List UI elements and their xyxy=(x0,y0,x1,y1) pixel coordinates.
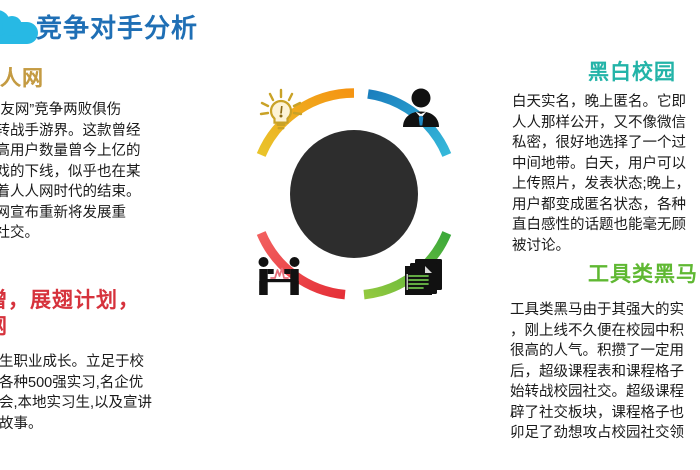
section-number: 2 xyxy=(0,11,6,45)
panel-heading-shixi: 习僧，展翅计划， 街网 xyxy=(0,288,140,340)
businessman-icon xyxy=(398,85,444,131)
panel-body-renren: 讯的“朋友网”竞争两败俱伤 人人网转战手游界。这款曾经 园，最高用户数量曾今上亿… xyxy=(0,100,214,244)
circular-diagram xyxy=(238,55,468,365)
panel-heading-heibai: 黑白校园 xyxy=(588,56,676,86)
lightbulb-icon xyxy=(258,88,304,134)
panel-heading-gongju: 工具类黑马 xyxy=(588,258,698,288)
page-title: 竞争对手分析 xyxy=(36,8,198,45)
panel-body-gongju: 工具类黑马由于其强大的实 ，刚上线不久便在校园中积 很高的人气。积攒了一定用 后… xyxy=(510,300,700,444)
panel-body-heibai: 白天实名，晚上匿名。它即 人人那样公开，又不像微信 私密，很好地选择了一个过 中… xyxy=(512,92,700,256)
document-icon xyxy=(401,255,447,301)
meeting-icon xyxy=(256,255,302,301)
page-header: 2 竞争对手分析 xyxy=(0,0,700,52)
panel-body-shixi: 大学生职业成长。立足于校 推荐各种500强实习,名企优 习机会,本地实习生,以及… xyxy=(0,352,210,434)
center-disc xyxy=(290,130,418,258)
panel-heading-renren: 人人网 xyxy=(0,62,44,92)
